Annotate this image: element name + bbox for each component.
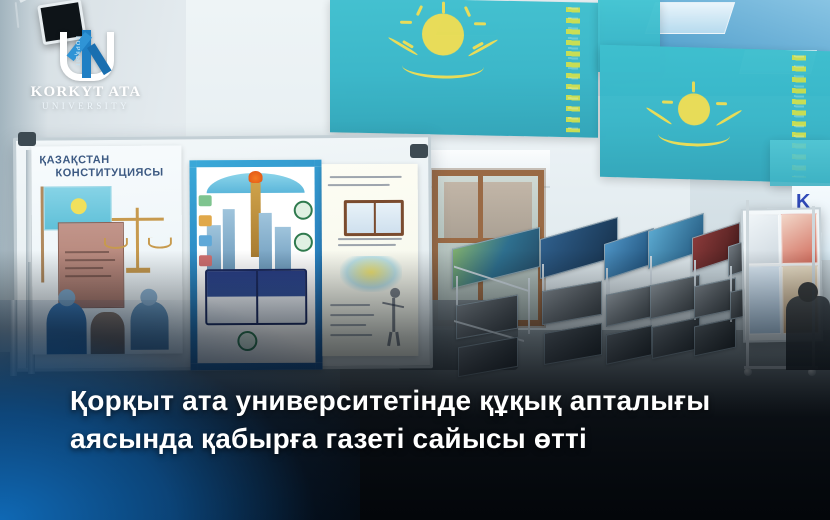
kazakhstan-flag — [330, 0, 598, 138]
flag-eagle — [402, 53, 484, 80]
poster-icon-chip — [199, 215, 212, 226]
state-emblem-seal — [294, 233, 313, 252]
logo-vertical-text: ҚОРҚЫТ — [72, 36, 80, 70]
university-logo: ҚОРҚЫТ KORKYT ATA UNIVERSITY — [30, 28, 142, 114]
flag-ray — [442, 2, 445, 14]
flag-ray — [716, 102, 727, 105]
photo-card: ҚАЗАҚСТАН КОНСТИТУЦИЯСЫ — [0, 0, 830, 520]
poster-icon-chip — [199, 235, 212, 246]
flag-ray — [400, 21, 412, 24]
caption: Қорқыт ата университетінде құқық апталығ… — [70, 382, 770, 458]
open-book-illustration — [344, 200, 404, 236]
poster-title: ҚАЗАҚСТАН КОНСТИТУЦИЯСЫ — [39, 154, 173, 181]
logo-monogram: ҚОРҚЫТ — [54, 28, 118, 80]
kazakhstan-flag — [770, 140, 830, 186]
handwritten-line — [338, 238, 402, 240]
poster-title-line2: КОНСТИТУЦИЯСЫ — [39, 167, 173, 181]
handwritten-title-line — [330, 176, 402, 178]
handwritten-line — [338, 244, 396, 246]
scales-pan — [104, 238, 128, 249]
handwritten-title-line — [328, 184, 390, 186]
caption-line-2: аясында қабырға газеті сайысы өтті — [70, 420, 770, 458]
logo-name-secondary: UNIVERSITY — [30, 101, 142, 111]
flag-ray — [692, 81, 695, 92]
scales-pan — [148, 238, 172, 249]
baiterek-orb-icon — [249, 171, 263, 183]
poster-title-line1: ҚАЗАҚСТАН — [39, 154, 109, 166]
flag-ornament — [566, 8, 580, 133]
flag-sun — [422, 13, 464, 56]
logo-name-primary: KORKYT ATA — [30, 84, 142, 101]
flag-ray — [464, 6, 471, 17]
board-corner-cap — [410, 144, 428, 158]
flag-ray — [662, 101, 673, 104]
board-corner-cap — [18, 132, 36, 146]
flag-ray — [474, 22, 486, 25]
flag-eagle — [658, 122, 730, 147]
poster-icon-chip — [199, 195, 212, 206]
flag-ray — [416, 5, 423, 16]
state-emblem-seal — [294, 201, 313, 220]
caption-line-1: Қорқыт ата университетінде құқық апталығ… — [70, 382, 770, 420]
flag-sun — [678, 93, 710, 126]
